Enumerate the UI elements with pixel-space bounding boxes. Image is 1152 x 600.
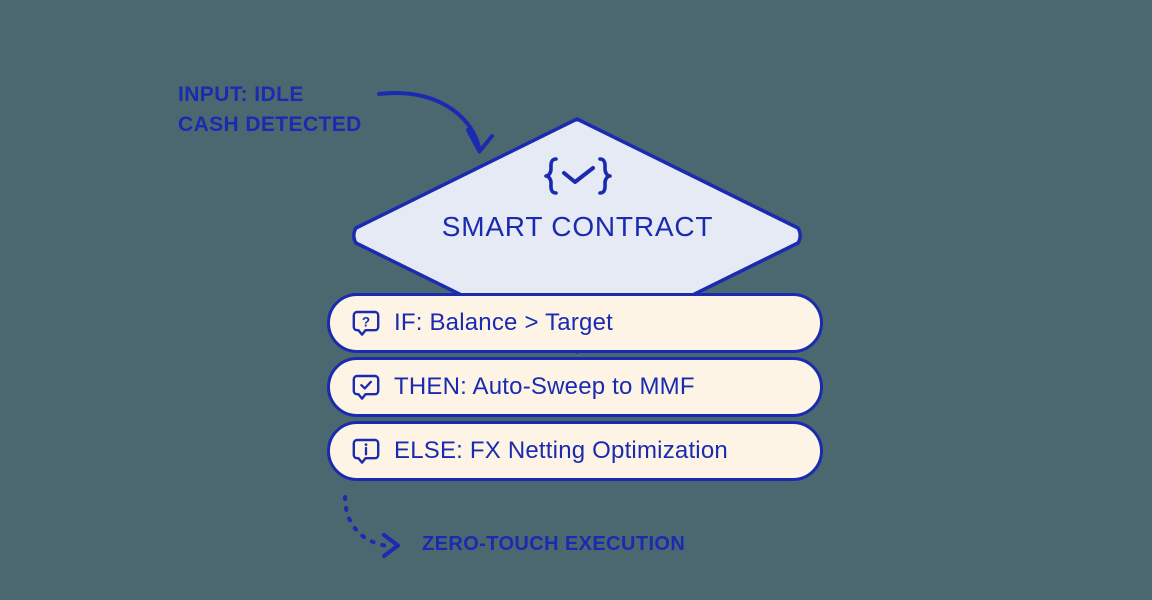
rule-pill-then[interactable]: THEN: Auto-Sweep to MMF — [327, 357, 823, 417]
svg-text:?: ? — [362, 315, 370, 330]
check-speech-bubble-icon — [352, 373, 380, 401]
question-speech-bubble-icon: ? — [352, 309, 380, 337]
smart-contract-title: SMART CONTRACT — [442, 211, 714, 243]
rule-pill-else-text: ELSE: FX Netting Optimization — [394, 437, 728, 465]
smart-contract-node-content: SMART CONTRACT — [340, 110, 815, 295]
code-braces-check-icon — [540, 155, 616, 197]
info-speech-bubble-icon — [352, 437, 380, 465]
rule-pill-else[interactable]: ELSE: FX Netting Optimization — [327, 421, 823, 481]
output-label: ZERO-TOUCH EXECUTION — [422, 533, 685, 556]
smart-contract-node[interactable]: SMART CONTRACT — [340, 110, 815, 295]
diagram-canvas: INPUT: IDLE CASH DETECTED SMART CONTRACT… — [0, 0, 1152, 600]
rule-pill-if[interactable]: ? IF: Balance > Target — [327, 293, 823, 353]
rule-pill-if-text: IF: Balance > Target — [394, 309, 613, 337]
rule-pill-then-text: THEN: Auto-Sweep to MMF — [394, 373, 695, 401]
